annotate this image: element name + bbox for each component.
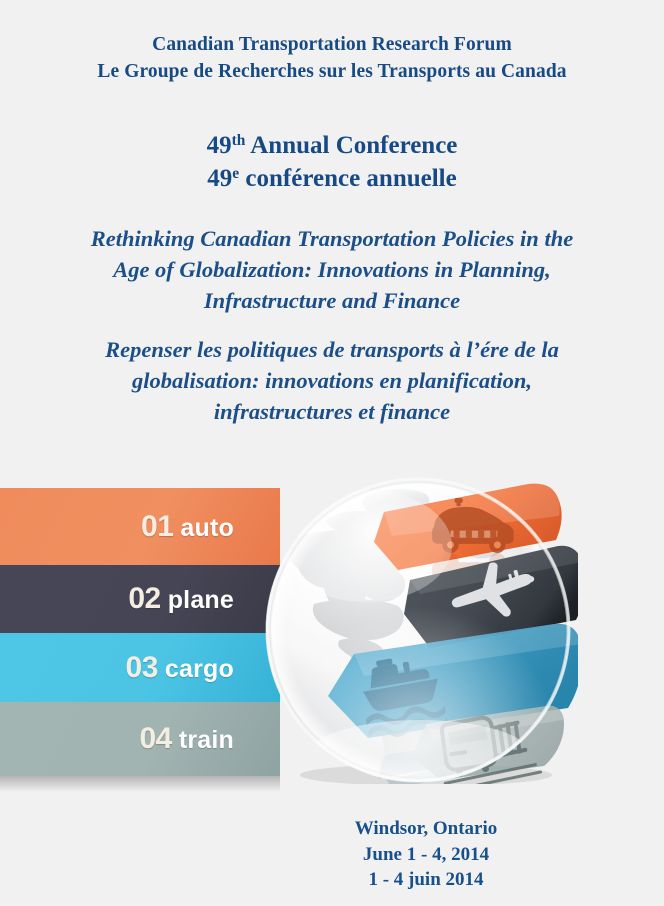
transport-mode-label-cargo: cargo xyxy=(165,655,234,683)
conference-title-en-ordinal: th xyxy=(232,132,246,149)
conference-title-fr: 49e conférence annuelle xyxy=(0,162,664,195)
transport-mode-bars: 01auto 02plane 03cargo 04train xyxy=(0,488,280,776)
theme-french-line-2: globalisation: innovations en planificat… xyxy=(22,365,642,396)
transport-mode-bar-plane-text: 02plane xyxy=(128,582,234,616)
transport-mode-bar-plane: 02plane xyxy=(0,565,280,633)
globe-graphic xyxy=(258,472,578,784)
transport-mode-number-cargo: 03 xyxy=(126,651,158,684)
conference-title-en-rest: Annual Conference xyxy=(245,132,457,159)
conference-title-fr-number: 49 xyxy=(207,165,232,192)
theme-english-line-1: Rethinking Canadian Transportation Polic… xyxy=(22,223,642,254)
theme-french-line-1: Repenser les politiques de transports à … xyxy=(22,334,642,365)
event-dates-en: June 1 - 4, 2014 xyxy=(266,842,586,868)
bars-drop-shadow xyxy=(0,776,280,792)
conference-poster: Canadian Transportation Research Forum L… xyxy=(0,0,664,906)
transport-mode-bar-train-text: 04train xyxy=(139,722,234,756)
transport-mode-bar-auto-text: 01auto xyxy=(141,510,234,544)
event-details: Windsor, Ontario June 1 - 4, 2014 1 - 4 … xyxy=(266,816,586,893)
event-location: Windsor, Ontario xyxy=(266,816,586,842)
transport-mode-number-train: 04 xyxy=(139,722,171,755)
event-dates-fr: 1 - 4 juin 2014 xyxy=(266,867,586,893)
transport-mode-label-plane: plane xyxy=(168,586,234,614)
transport-mode-label-train: train xyxy=(179,726,234,754)
globe-svg xyxy=(258,472,578,784)
transport-mode-bar-cargo: 03cargo xyxy=(0,633,280,702)
conference-title-en-number: 49 xyxy=(207,132,232,159)
transport-mode-label-auto: auto xyxy=(180,514,234,542)
theme-english: Rethinking Canadian Transportation Polic… xyxy=(22,223,642,316)
conference-title: 49th Annual Conference 49e conférence an… xyxy=(0,129,664,195)
theme-french: Repenser les politiques de transports à … xyxy=(22,334,642,427)
transport-mode-number-plane: 02 xyxy=(128,582,160,615)
theme-english-line-3: Infrastructure and Finance xyxy=(22,285,642,316)
conference-title-fr-rest: conférence annuelle xyxy=(239,165,457,192)
transport-mode-bar-cargo-text: 03cargo xyxy=(126,651,234,685)
organization-name: Canadian Transportation Research Forum L… xyxy=(0,31,664,85)
conference-title-en: 49th Annual Conference xyxy=(0,129,664,162)
transport-mode-bar-auto: 01auto xyxy=(0,488,280,565)
transport-mode-number-auto: 01 xyxy=(141,510,173,543)
theme-english-line-2: Age of Globalization: Innovations in Pla… xyxy=(22,254,642,285)
organization-name-en: Canadian Transportation Research Forum xyxy=(0,31,664,58)
organization-name-fr: Le Groupe de Recherches sur les Transpor… xyxy=(0,58,664,85)
transport-mode-bar-train: 04train xyxy=(0,702,280,776)
theme-french-line-3: infrastructures et finance xyxy=(22,396,642,427)
